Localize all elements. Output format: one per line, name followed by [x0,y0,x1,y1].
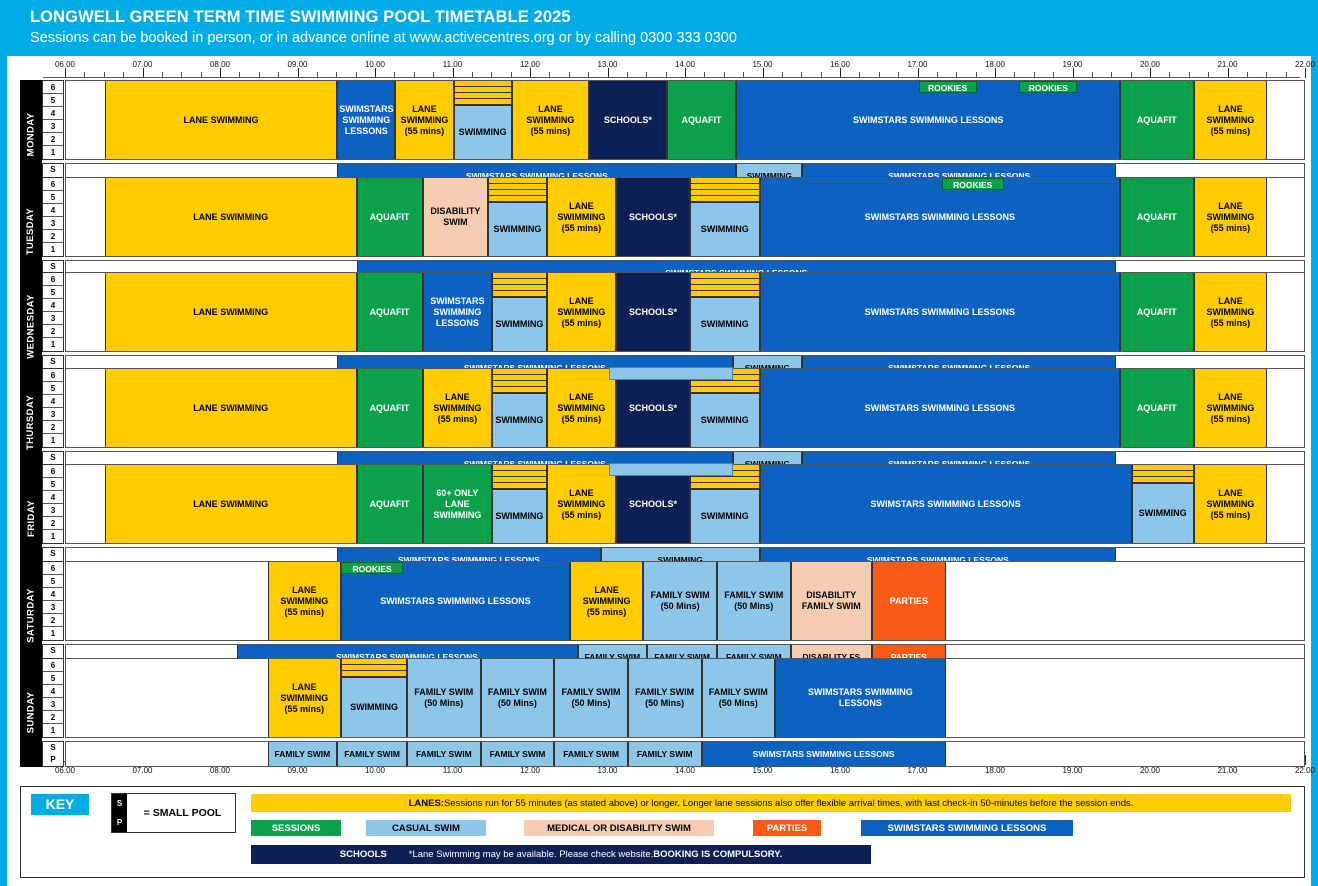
session-block-label: LANE SWIMMING [107,499,355,510]
axis-label: 09.00 [287,766,307,775]
session-block[interactable]: AQUAFIT [357,465,423,543]
session-block[interactable]: FAMILY SWIM(50 Mins) [481,659,555,737]
main-pool-track: LANE SWIMMINGAQUAFITSWIMSTARSSWIMMINGLES… [65,272,1305,352]
lane-number: 5 [43,575,63,588]
session-block-label: 60+ ONLY LANESWIMMING [425,488,491,521]
lane-stripes [1133,465,1193,483]
axis-label: 10.00 [365,766,385,775]
lane-number-column: 654321 [42,658,64,738]
session-block[interactable]: SWIMMING [690,178,760,256]
session-block-label: DISABILITYFAMILY SWIM [793,590,870,612]
session-block-label: SWIMSTARS SWIMMING LESSONS [762,307,1118,318]
axis-label: 11.00 [443,60,462,69]
session-block-label: FAMILY SWIM [339,749,405,760]
lane-number: 4 [43,299,63,312]
session-block[interactable]: LANE SWIMMING [105,178,357,256]
session-block-label: LANESWIMMING(55 mins) [1196,201,1266,234]
right-rail [1311,56,1318,886]
session-block[interactable]: DISABILITYSWIM [423,178,489,256]
session-block[interactable]: FAMILY SWIM(50 Mins) [702,659,776,737]
session-block[interactable]: AQUAFIT [1120,273,1194,351]
session-block[interactable]: LANESWIMMING(55 mins) [395,81,453,159]
axis-label: 13.00 [597,60,617,69]
session-block-label: SWIMMING [691,202,759,256]
lane-number: 5 [43,382,63,395]
session-block[interactable]: SWIMMING [488,178,546,256]
axis-label: 14.00 [675,766,695,775]
session-block[interactable]: SWIMMING [341,659,407,737]
session-block-label: LANESWIMMING(55 mins) [270,682,340,715]
session-block-label: LANESWIMMING(55 mins) [1196,104,1266,137]
session-block-label: SWIMSTARS SWIMMING LESSONS [343,596,568,607]
session-block[interactable]: LANESWIMMING(55 mins) [547,273,617,351]
axis-label: 20.00 [1140,60,1160,69]
day-label: WEDNESDAY [20,272,42,381]
lane-number-column: 654321 [42,368,64,448]
small-pool-sp-box: S P [112,794,127,832]
timetable-page: LONGWELL GREEN TERM TIME SWIMMING POOL T… [0,0,1318,886]
session-block[interactable]: FAMILY SWIM [268,742,338,766]
session-block-label: FAMILY SWIM(50 Mins) [409,687,479,709]
day-label: MONDAY [20,80,42,189]
lane-number: 4 [43,204,63,217]
session-block-label: FAMILY SWIM(50 Mins) [719,590,789,612]
key-swatch: MEDICAL OR DISABILITY SWIM [524,820,714,836]
session-block-label: LANESWIMMING(55 mins) [572,585,642,618]
session-block[interactable]: 60+ ONLY LANESWIMMING [423,465,493,543]
session-block[interactable]: SCHOOLS* [616,369,690,447]
axis-label: 22.00 [1295,60,1315,69]
session-block-label: FAMILY SWIM(50 Mins) [556,687,626,709]
session-block[interactable]: FAMILY SWIM(50 Mins) [628,659,702,737]
lane-number: 2 [43,230,63,243]
session-block[interactable]: AQUAFIT [1120,369,1194,447]
lane-number-column: 654321 [42,561,64,641]
lane-number: 2 [43,711,63,724]
page-header: LONGWELL GREEN TERM TIME SWIMMING POOL T… [0,0,1318,56]
lane-number: 6 [43,81,63,94]
session-block-label: FAMILY SWIM [556,749,626,760]
lane-stripes [455,81,511,105]
lane-number: 6 [43,273,63,286]
session-block-label: AQUAFIT [1122,403,1192,414]
session-block-label: LANESWIMMING(55 mins) [1196,392,1266,425]
session-block-label: FAMILY SWIM(50 Mins) [630,687,700,709]
session-block[interactable]: SWIMMING [690,465,760,543]
small-pool-row-label: S [43,645,63,657]
axis-label: 20.00 [1140,766,1160,775]
day-label-text: FRIDAY [26,500,37,537]
session-block[interactable]: FAMILY SWIM [554,742,628,766]
session-block[interactable]: AQUAFIT [357,273,423,351]
rookies-badge[interactable]: ROOKIES [1019,81,1077,93]
small-pool-row-label: S [43,452,63,464]
day-row-tuesday: TUESDAY654321SPLANE SWIMMINGAQUAFITDISAB… [20,177,1305,286]
rookies-badge[interactable]: ROOKIES [919,81,977,93]
session-block[interactable]: SWIMMING [492,465,546,543]
lane-number: 2 [43,325,63,338]
session-block[interactable]: FAMILY SWIM(50 Mins) [554,659,628,737]
session-block[interactable]: SCHOOLS* [616,465,690,543]
session-block[interactable]: SWIMSTARS SWIMMING LESSONS [760,465,1132,543]
session-block-label: LANE SWIMMING [107,403,355,414]
lane-number: 4 [43,588,63,601]
axis-tick-major [1305,755,1306,765]
time-axis-top: 06.0007.0008.0009.0010.0011.0012.0013.00… [20,60,1305,82]
session-block[interactable]: SWIMSTARS SWIMMINGLESSONS [775,659,946,737]
session-block-label: SWIMSTARS SWIMMING LESSONS [738,115,1118,126]
session-block-label: AQUAFIT [1122,307,1192,318]
session-block-label: LANESWIMMING(55 mins) [549,296,615,329]
session-block-label: PARTIES [874,596,944,607]
session-block[interactable]: LANESWIMMING(55 mins) [1194,465,1268,543]
axis-baseline [43,77,1300,78]
session-block[interactable]: AQUAFIT [667,81,737,159]
session-block-label: LANE SWIMMING [107,307,355,318]
session-block-label: AQUAFIT [1122,212,1192,223]
session-block[interactable]: FAMILY SWIM [481,742,555,766]
lane-stripes [489,178,545,202]
axis-label: 17.00 [907,766,927,775]
session-block[interactable]: SCHOOLS* [589,81,667,159]
session-block-label: SWIMSTARSSWIMMINGLESSONS [339,104,393,137]
lane-number: 5 [43,191,63,204]
lane-stripes [691,178,759,202]
day-row-monday: MONDAY654321SPLANE SWIMMINGSWIMSTARSSWIM… [20,80,1305,189]
session-block[interactable]: SWIMSTARS SWIMMING LESSONS [760,178,1120,256]
day-row-sunday: SUNDAY654321SPLANESWIMMING(55 mins)SWIMM… [20,658,1305,767]
day-row-wednesday: WEDNESDAY654321SPLANE SWIMMINGAQUAFITSWI… [20,272,1305,381]
lane-number: 6 [43,178,63,191]
session-block-label: AQUAFIT [1122,115,1192,126]
lane-number: 4 [43,395,63,408]
session-block-label: FAMILY SWIM [630,749,700,760]
axis-label: 12.00 [520,60,540,69]
axis-label: 11.00 [443,766,462,775]
day-row-saturday: SATURDAY654321SPLANESWIMMING(55 mins)SWI… [20,561,1305,670]
session-block[interactable]: FAMILY SWIM [628,742,702,766]
lane-number: 3 [43,504,63,517]
session-block-label: FAMILY SWIM [409,749,479,760]
session-block[interactable]: SWIMSTARSSWIMMINGLESSONS [423,273,493,351]
session-block[interactable]: LANESWIMMING(55 mins) [1194,81,1268,159]
session-block[interactable]: SCHOOLS* [616,273,690,351]
lane-number-column: 654321 [42,177,64,257]
page-title: LONGWELL GREEN TERM TIME SWIMMING POOL T… [30,6,1318,28]
axis-label: 15.00 [752,60,772,69]
session-block[interactable]: SWIMSTARS SWIMMING LESSONS [760,273,1120,351]
small-pool-row-label: S [43,356,63,368]
session-block[interactable]: SWIMMING [454,81,512,159]
session-block[interactable]: LANESWIMMING(55 mins) [268,562,342,640]
session-block-label: FAMILY SWIM(50 Mins) [704,687,774,709]
small-pool-p: P [112,813,127,832]
axis-label: 09.00 [287,60,307,69]
lane-number: 2 [43,133,63,146]
session-block[interactable]: LANESWIMMING(55 mins) [1194,178,1268,256]
day-row-friday: FRIDAY654321SPLANE SWIMMINGAQUAFIT60+ ON… [20,464,1305,573]
session-block-label: LANESWIMMING(55 mins) [397,104,451,137]
main-pool-track: LANE SWIMMINGSWIMSTARSSWIMMINGLESSONSLAN… [65,80,1305,160]
axis-label: 21.00 [1217,60,1237,69]
axis-label: 10.00 [365,60,385,69]
key-lanes-text: Sessions run for 55 minutes (as stated a… [444,798,1133,809]
axis-label: 16.00 [830,766,850,775]
small-pool-column: SP [42,741,64,767]
session-block[interactable]: SWIMMING [492,273,546,351]
day-label-text: MONDAY [26,113,37,157]
session-block-label: LANESWIMMING(55 mins) [425,392,491,425]
small-pool-key: S P = SMALL POOL [111,793,236,833]
session-block-label: LANE SWIMMING [107,115,336,126]
key-schools-label: SCHOOLS [340,849,387,860]
session-block[interactable]: SWIMSTARS SWIMMING LESSONS [702,742,946,766]
session-block-label: LANESWIMMING(55 mins) [514,104,588,137]
day-label-text: TUESDAY [26,208,37,255]
axis-label: 13.00 [597,766,617,775]
session-block-label: SCHOOLS* [618,499,688,510]
session-block-label: SWIMSTARS SWIMMINGLESSONS [777,687,944,709]
session-block[interactable]: LANE SWIMMING [105,273,357,351]
session-block-label: LANESWIMMING(55 mins) [1196,296,1266,329]
key-schools-bar: SCHOOLS*Lane Swimming may be available. … [251,845,871,864]
session-block-label: FAMILY SWIM [270,749,336,760]
session-block-label: AQUAFIT [359,403,421,414]
session-block-label: SWIMMING [691,297,759,351]
lane-number: 5 [43,94,63,107]
axis-label: 14.00 [675,60,695,69]
session-block[interactable]: SWIMMING [1132,465,1194,543]
session-block[interactable]: LANESWIMMING(55 mins) [423,369,493,447]
session-block-label: DISABILITYSWIM [425,206,487,228]
session-block-label: SWIMSTARS SWIMMING LESSONS [704,749,944,760]
session-block[interactable]: LANE SWIMMING [105,465,357,543]
axis-label: 15.00 [752,766,772,775]
lane-number: 6 [43,465,63,478]
session-block-label: SCHOOLS* [618,212,688,223]
session-block[interactable]: FAMILY SWIM(50 Mins) [407,659,481,737]
lane-number: 1 [43,627,63,640]
session-block-label: SWIMMING [493,297,545,351]
day-label-text: SUNDAY [26,692,37,734]
rookies-badge[interactable]: ROOKIES [942,178,1004,190]
lane-number-column: 654321 [42,272,64,352]
axis-label: 21.00 [1217,766,1237,775]
lane-number: 6 [43,659,63,672]
main-pool-track: LANE SWIMMINGAQUAFIT60+ ONLY LANESWIMMIN… [65,464,1305,544]
lane-number: 5 [43,286,63,299]
session-block[interactable]: LANESWIMMING(55 mins) [570,562,644,640]
lane-stripes [493,465,545,489]
session-block-label: LANESWIMMING(55 mins) [549,392,615,425]
session-block-label: LANESWIMMING(55 mins) [549,488,615,521]
session-block-label: FAMILY SWIM [483,749,553,760]
session-block[interactable]: AQUAFIT [1120,81,1194,159]
day-label-text: SATURDAY [26,588,37,642]
small-pool-label: = SMALL POOL [130,794,235,832]
key-lanes-prefix: LANES: [409,798,444,809]
session-block[interactable]: LANE SWIMMING [105,81,338,159]
session-block[interactable]: LANESWIMMING(55 mins) [547,178,617,256]
lane-number: 3 [43,601,63,614]
key-schools-note: *Lane Swimming may be available. Please … [409,849,654,860]
session-block-label: LANESWIMMING(55 mins) [549,201,615,234]
key-schools-bold: BOOKING IS COMPULSORY. [653,849,782,860]
axis-label: 08.00 [210,766,230,775]
key-swatch: PARTIES [753,820,821,836]
session-block-label: SCHOOLS* [591,115,665,126]
session-block-label: SWIMSTARS SWIMMING LESSONS [762,212,1118,223]
session-block[interactable]: LANESWIMMING(55 mins) [268,659,342,737]
lane-number: 2 [43,421,63,434]
session-block[interactable]: PARTIES [872,562,946,640]
session-block-label: AQUAFIT [359,307,421,318]
axis-label: 07.00 [132,766,152,775]
session-block[interactable]: FAMILY SWIM(50 Mins) [717,562,791,640]
lane-number: 1 [43,338,63,351]
session-block[interactable]: AQUAFIT [357,369,423,447]
session-block[interactable]: AQUAFIT [1120,178,1194,256]
key-swatch: SWIMSTARS SWIMMING LESSONS [861,820,1073,836]
small-pool-track: FAMILY SWIMFAMILY SWIMFAMILY SWIMFAMILY … [65,741,1305,767]
session-block-label: LANE SWIMMING [107,212,355,223]
left-rail [0,56,7,886]
axis-label: 18.00 [985,60,1005,69]
session-block-label: SWIMSTARS SWIMMING LESSONS [762,499,1130,510]
axis-label: 06.00 [55,766,75,775]
small-pool-row-label: S [43,742,63,754]
small-pool-row-label: P [43,754,63,766]
day-label: SATURDAY [20,561,42,670]
session-block[interactable]: SWIMMING [690,369,760,447]
lane-number: 6 [43,369,63,382]
axis-label: 19.00 [1062,766,1082,775]
session-block-label: SWIMMING [455,105,511,159]
lane-number: 4 [43,685,63,698]
session-block[interactable]: LANESWIMMING(55 mins) [1194,273,1268,351]
lane-number: 1 [43,243,63,256]
lane-number: 1 [43,530,63,543]
day-label: TUESDAY [20,177,42,286]
session-block[interactable]: LANE SWIMMING [105,369,357,447]
session-block[interactable]: SWIMMING [690,273,760,351]
lane-number: 3 [43,408,63,421]
session-block[interactable]: LANESWIMMING(55 mins) [1194,369,1268,447]
session-block-label: SCHOOLS* [618,307,688,318]
session-block-label: LANESWIMMING(55 mins) [270,585,340,618]
session-block-label: SWIMMING [691,393,759,447]
main-pool-track: LANE SWIMMINGAQUAFITDISABILITYSWIMSWIMMI… [65,177,1305,257]
session-block-label: AQUAFIT [669,115,735,126]
session-block[interactable]: SCHOOLS* [616,178,690,256]
rookies-badge[interactable]: ROOKIES [341,562,403,574]
axis-label: 08.00 [210,60,230,69]
lane-number: 3 [43,217,63,230]
session-block[interactable]: LANESWIMMING(55 mins) [512,81,590,159]
axis-label: 16.00 [830,60,850,69]
session-block[interactable]: LANESWIMMING(55 mins) [547,369,617,447]
day-label: THURSDAY [20,368,42,477]
day-label: FRIDAY [20,464,42,573]
session-block-label: FAMILY SWIM(50 Mins) [483,687,553,709]
lane-stripes [691,273,759,297]
casual-swim-subbar[interactable] [609,367,733,380]
lane-number-column: 654321 [42,80,64,160]
session-block[interactable]: LANESWIMMING(55 mins) [547,465,617,543]
session-block-label: SWIMMING [1133,483,1193,543]
lane-number: 1 [43,724,63,737]
lane-number: 4 [43,107,63,120]
session-block-label: SWIMSTARS SWIMMING LESSONS [762,403,1118,414]
session-block-label: SWIMSTARSSWIMMINGLESSONS [425,296,491,329]
small-pool-row-label: S [43,548,63,560]
key-legend: KEY S P = SMALL POOL LANES: Sessions run… [20,786,1305,878]
main-pool-track: LANE SWIMMINGAQUAFITLANESWIMMING(55 mins… [65,368,1305,448]
key-lanes-bar: LANES: Sessions run for 55 minutes (as s… [251,794,1291,812]
day-label: SUNDAY [20,658,42,767]
session-block-label: SWIMMING [493,489,545,543]
page-subtitle: Sessions can be booked in person, or in … [30,28,1318,48]
session-block[interactable]: FAMILY SWIM [337,742,407,766]
session-block[interactable]: AQUAFIT [357,178,423,256]
session-block-label: SWIMMING [342,677,406,737]
session-block-label: SWIMMING [493,393,545,447]
session-block-label: SWIMMING [691,489,759,543]
lane-number: 2 [43,614,63,627]
casual-swim-subbar[interactable] [609,463,733,476]
lane-number: 3 [43,120,63,133]
lane-number: 3 [43,312,63,325]
lane-number: 6 [43,562,63,575]
axis-label: 12.00 [520,766,540,775]
axis-label: 06.00 [55,60,75,69]
day-label-text: THURSDAY [26,395,37,450]
session-block[interactable]: SWIMSTARSSWIMMINGLESSONS [337,81,395,159]
lane-number: 1 [43,146,63,159]
lane-number: 3 [43,698,63,711]
axis-tick-major [1305,68,1306,78]
session-block-label: LANESWIMMING(55 mins) [1196,488,1266,521]
key-badge: KEY [31,794,89,815]
session-block[interactable]: DISABILITYFAMILY SWIM [791,562,872,640]
lane-number-column: 654321 [42,464,64,544]
axis-label: 17.00 [907,60,927,69]
main-pool-track: LANESWIMMING(55 mins)SWIMMINGFAMILY SWIM… [65,658,1305,738]
session-block[interactable]: FAMILY SWIM [407,742,481,766]
axis-label: 18.00 [985,766,1005,775]
lane-number: 2 [43,517,63,530]
lane-number: 5 [43,478,63,491]
session-block-label: AQUAFIT [359,499,421,510]
session-block-label: SWIMMING [489,202,545,256]
lane-stripes [342,659,406,677]
day-label-text: WEDNESDAY [26,294,37,358]
key-swatch: CASUAL SWIM [366,820,486,836]
main-pool-track: LANESWIMMING(55 mins)SWIMSTARS SWIMMING … [65,561,1305,641]
session-block-label: FAMILY SWIM(50 Mins) [645,590,715,612]
session-block-label: AQUAFIT [359,212,421,223]
session-block[interactable]: SWIMSTARS SWIMMING LESSONS [760,369,1120,447]
small-pool-s: S [112,794,127,813]
axis-label: 19.00 [1062,60,1082,69]
axis-label: 22.00 [1295,766,1315,775]
lane-stripes [493,369,545,393]
session-block[interactable]: FAMILY SWIM(50 Mins) [643,562,717,640]
lane-number: 5 [43,672,63,685]
axis-label: 07.00 [132,60,152,69]
key-swatch: SESSIONS [251,820,341,836]
session-block[interactable]: SWIMMING [492,369,546,447]
